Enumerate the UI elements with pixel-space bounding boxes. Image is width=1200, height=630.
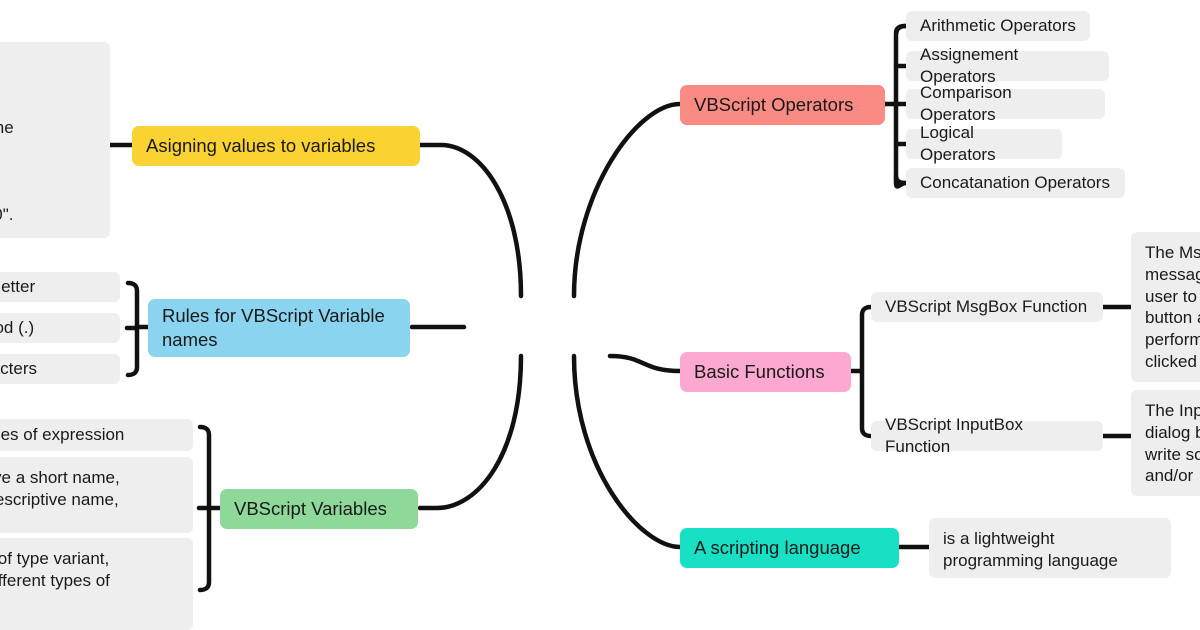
leaf-node-label: The Msg message user to c button a perfo… xyxy=(1145,242,1200,373)
leaf-node-label: in a period (.) xyxy=(0,317,34,339)
edge-root-asigning-curve xyxy=(420,145,521,296)
leaf-node-label: on the left and the ble is on the le '' … xyxy=(0,52,14,226)
root-node-label: VBScript xyxy=(479,309,595,344)
branch-node-label: VBScript Variables xyxy=(234,497,387,521)
leaf-node-label: Assignement Operators xyxy=(920,44,1095,88)
edge-functions-bracket xyxy=(851,307,871,436)
branch-node-label: Asigning values to variables xyxy=(146,134,375,158)
branch-node-basic-functions[interactable]: Basic Functions xyxy=(680,352,851,392)
branch-node-scripting-language[interactable]: A scripting language xyxy=(680,528,899,568)
edge-root-operators xyxy=(574,104,680,296)
leaf-node-label: Comparison Operators xyxy=(920,82,1091,126)
leaf-node-label: The Inp dialog b write so and/or xyxy=(1145,400,1200,487)
edge-operators-child-5 xyxy=(896,176,905,183)
leaf-node-op-comparison[interactable]: Comparison Operators xyxy=(906,89,1105,119)
leaf-node-label: Arithmetic Operators xyxy=(920,15,1076,37)
leaf-node-label: VBScript InputBox Function xyxy=(885,414,1089,458)
leaf-node-label: VBScript MsgBox Function xyxy=(885,296,1087,318)
edge-operators-child-1 xyxy=(896,26,905,33)
leaf-node-fn-msgbox-note[interactable]: The Msg message user to c button a perfo… xyxy=(1131,232,1200,382)
leaf-node-op-assignement[interactable]: Assignement Operators xyxy=(906,51,1109,81)
edge-root-scripting xyxy=(574,356,680,547)
leaf-node-var-3[interactable]: les are of type variant, store different… xyxy=(0,538,193,630)
leaf-node-label: 55 characters xyxy=(0,358,37,380)
leaf-node-scripting-note[interactable]: is a lightweight programming language xyxy=(929,518,1171,578)
leaf-node-label: can have a short name, more descriptive … xyxy=(0,467,120,532)
leaf-node-label: is a lightweight programming language xyxy=(943,528,1157,572)
leaf-node-fn-inputbox[interactable]: VBScript InputBox Function xyxy=(871,421,1103,451)
edge-variables-bracket xyxy=(200,427,220,590)
leaf-node-label: old values of expression xyxy=(0,424,124,446)
branch-node-rules-variable-names[interactable]: Rules for VBScript Variable names xyxy=(148,299,410,357)
branch-node-label: VBScript Operators xyxy=(694,93,853,117)
leaf-node-var-1[interactable]: old values of expression xyxy=(0,419,193,451)
leaf-node-var-2[interactable]: can have a short name, more descriptive … xyxy=(0,457,193,533)
leaf-node-rule-3[interactable]: 55 characters xyxy=(0,354,120,384)
branch-node-label: A scripting language xyxy=(694,536,861,560)
mind-map-canvas: VBScript Asigning values to variables on… xyxy=(0,0,1200,630)
leaf-node-label: n with a letter xyxy=(0,276,35,298)
leaf-node-assign-note[interactable]: on the left and the ble is on the le '' … xyxy=(0,42,110,238)
branch-node-asigning-values[interactable]: Asigning values to variables xyxy=(132,126,420,166)
leaf-node-op-arithmetic[interactable]: Arithmetic Operators xyxy=(906,11,1090,41)
edge-root-basic-functions xyxy=(610,356,680,371)
branch-node-vbscript-variables[interactable]: VBScript Variables xyxy=(220,489,418,529)
edge-root-variables xyxy=(420,356,521,508)
leaf-node-rule-1[interactable]: n with a letter xyxy=(0,272,120,302)
leaf-node-op-logical[interactable]: Logical Operators xyxy=(906,129,1062,159)
leaf-node-fn-msgbox[interactable]: VBScript MsgBox Function xyxy=(871,292,1103,322)
leaf-node-fn-inputbox-note[interactable]: The Inp dialog b write so and/or xyxy=(1131,390,1200,496)
leaf-node-label: Logical Operators xyxy=(920,122,1048,166)
leaf-node-rule-2[interactable]: in a period (.) xyxy=(0,313,120,343)
leaf-node-op-concatanation[interactable]: Concatanation Operators xyxy=(906,168,1125,198)
leaf-node-label: Concatanation Operators xyxy=(920,172,1110,194)
branch-node-label: Rules for VBScript Variable names xyxy=(162,304,396,351)
leaf-node-label: les are of type variant, store different… xyxy=(0,548,110,592)
branch-node-label: Basic Functions xyxy=(694,360,825,384)
edge-operators-bracket xyxy=(885,26,906,187)
edge-rules-bracket xyxy=(128,283,148,375)
root-node-vbscript[interactable]: VBScript xyxy=(464,296,610,356)
branch-node-vbscript-operators[interactable]: VBScript Operators xyxy=(680,85,885,125)
